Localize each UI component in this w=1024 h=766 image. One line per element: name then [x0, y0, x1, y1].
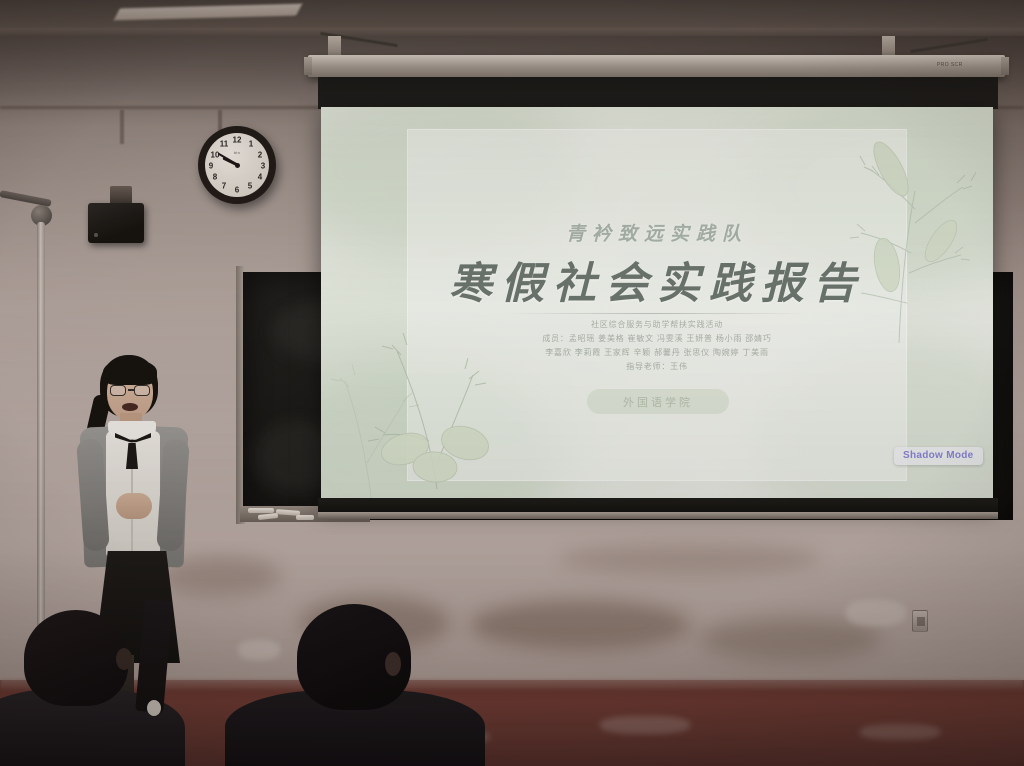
screen-bottom-weight-bar	[318, 512, 998, 519]
screen-case-label: PRO SCR	[937, 62, 963, 68]
baseboard-peel-1	[600, 716, 690, 734]
shadow-mode-badge[interactable]: Shadow Mode	[894, 447, 983, 465]
wall-paint-peel-2	[238, 640, 280, 660]
clock-face: 12 1 2 3 4 5 6 7 8 9 10 11 bin	[205, 133, 269, 197]
slide-members-line-1: 成员：孟昭瑶 姜美格 崔敏文 冯雯溪 王妍普 杨小雨 邵婧巧	[321, 333, 993, 344]
slide-organization-badge: 外国语学院	[587, 389, 729, 414]
clock-center-pin	[235, 163, 240, 168]
wall-speaker	[88, 203, 144, 243]
wall-outlet[interactable]	[912, 610, 928, 632]
presenter-glasses-bridge	[128, 389, 134, 391]
screen-case-cap-right	[1001, 57, 1009, 75]
audience-member-left-ear	[116, 648, 132, 670]
slide-advisor-line: 指导老师：王伟	[321, 361, 993, 372]
chalk-piece[interactable]	[296, 515, 314, 520]
presentation-slide: 青衿致远实践队 寒假社会实践报告 社区综合服务与助学帮扶实践活动 成员：孟昭瑶 …	[321, 107, 993, 504]
audience-member-left-head	[24, 610, 128, 706]
projector-screen: 青衿致远实践队 寒假社会实践报告 社区综合服务与助学帮扶实践活动 成员：孟昭瑶 …	[321, 107, 993, 504]
wall-stain-5	[560, 544, 820, 574]
outlet-slot-icon	[917, 617, 925, 626]
slide-activity-line: 社区综合服务与助学帮扶实践活动	[321, 319, 993, 330]
slide-title-rule	[506, 313, 806, 314]
wall-stain-1	[470, 600, 690, 650]
presenter-mouth	[122, 403, 138, 411]
baseboard-peel-2	[860, 724, 940, 740]
wall-clock: 12 1 2 3 4 5 6 7 8 9 10 11 bin	[198, 126, 276, 204]
presenter-glasses-left-lens	[110, 385, 126, 396]
presenter-hands	[116, 493, 152, 519]
classroom-scene: 12 1 2 3 4 5 6 7 8 9 10 11 bin	[0, 0, 1024, 766]
presenter-hair-top	[103, 359, 157, 385]
wall-paint-peel-1	[846, 600, 906, 626]
wall-stain-2	[700, 618, 880, 660]
audience-member-center-ear	[385, 652, 401, 676]
slide-members-line-2: 李嘉欣 李莉霞 王家辉 辛颖 郝馨丹 张思仪 陶婉婷 丁美雨	[321, 347, 993, 358]
chalk-piece[interactable]	[248, 508, 274, 513]
slide-team-name: 青衿致远实践队	[321, 219, 993, 246]
speaker-indicator-led	[94, 233, 98, 237]
screen-black-leader	[318, 77, 998, 109]
slide-title: 寒假社会实践报告	[321, 249, 993, 311]
screen-case-cap-left	[304, 57, 312, 75]
audience-bag-strap-tip	[147, 700, 161, 716]
presenter-glasses-right-lens	[134, 385, 150, 396]
clock-brand-label: bin	[205, 150, 269, 155]
wall-panel-line-1	[120, 110, 124, 144]
projector-screen-case	[308, 55, 1005, 77]
screen-bottom-border	[318, 498, 998, 512]
